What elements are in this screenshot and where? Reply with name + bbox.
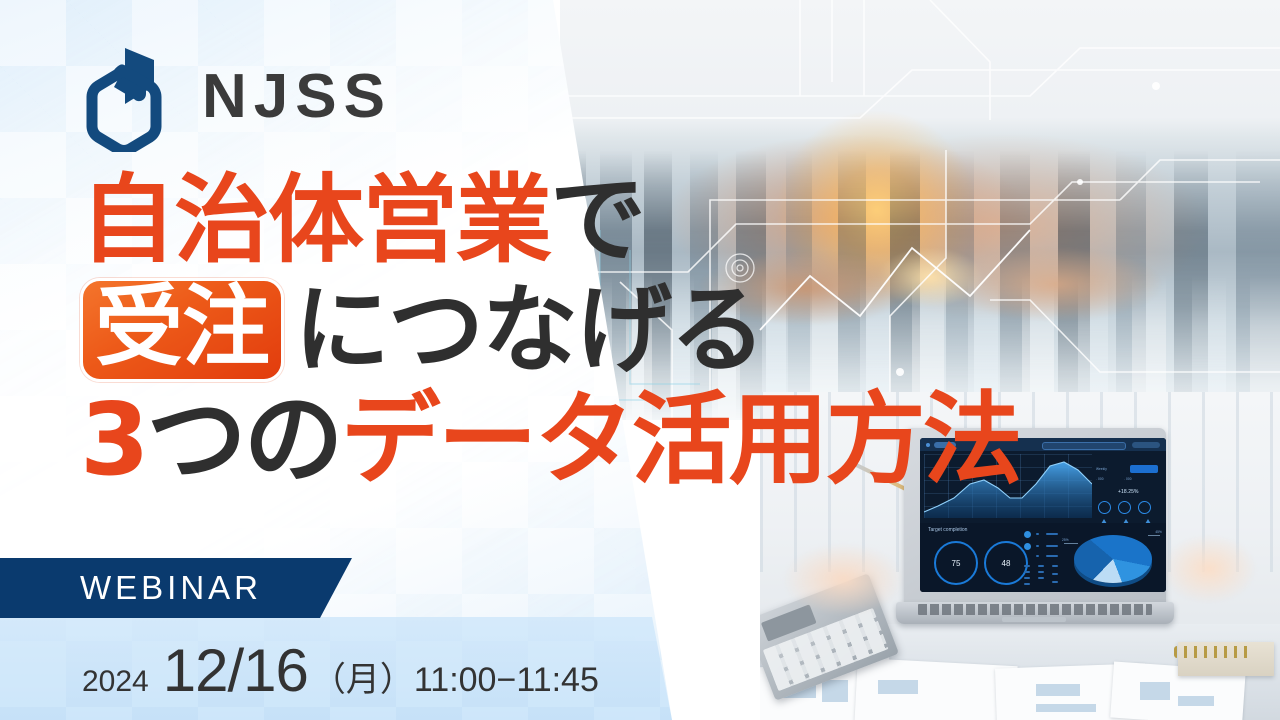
headline-line3-mid: つの bbox=[147, 390, 341, 490]
event-weekday-time: （月）11:00−11:45 bbox=[312, 652, 599, 701]
headline-line-3: 3 つの データ活用方法 bbox=[80, 390, 1040, 490]
kpi-period-label: Weekly bbox=[1096, 467, 1107, 471]
event-year: 2024 bbox=[82, 665, 149, 699]
dashboard-lower-panel: Target completion 75 48 bbox=[920, 523, 1166, 592]
pie-chart: 25% 45% bbox=[1064, 529, 1160, 587]
laptop-keyboard bbox=[918, 604, 1152, 615]
kpi-delta: +18.25% bbox=[1118, 489, 1139, 495]
brand-logo[interactable]: NJSS bbox=[84, 42, 392, 152]
headline-line-1: 自治体営業 で bbox=[80, 172, 1040, 268]
gauge-right: 48 bbox=[984, 541, 1028, 585]
headline: 自治体営業 で 受注 につなげる 3 つの データ活用方法 bbox=[80, 172, 1040, 490]
gauge-left-value: 75 bbox=[952, 559, 961, 568]
headline-line2-tail: につなげる bbox=[294, 282, 764, 378]
njss-hexagon-flag-icon bbox=[84, 42, 180, 152]
target-completion-label: Target completion bbox=[928, 527, 967, 533]
event-datetime: 2024 12/16 （月）11:00−11:45 bbox=[82, 636, 599, 705]
headline-line1-tail: で bbox=[550, 172, 644, 268]
webinar-ribbon: WEBINAR bbox=[0, 558, 352, 618]
brand-wordmark: NJSS bbox=[202, 66, 392, 128]
webinar-label: WEBINAR bbox=[80, 569, 262, 607]
headline-line-2: 受注 につなげる bbox=[80, 278, 1040, 382]
laptop-trackpad bbox=[1002, 617, 1066, 622]
notebook-spiral-rings bbox=[1174, 646, 1252, 658]
headline-line3-highlight: データ活用方法 bbox=[341, 390, 1020, 490]
order-badge: 受注 bbox=[80, 278, 284, 382]
headline-line1-highlight: 自治体営業 bbox=[80, 172, 550, 268]
dashboard-kpi-column: Weekly . 000 . 000 +18.25% bbox=[1096, 467, 1164, 531]
gauge-left: 75 bbox=[934, 541, 978, 585]
webinar-banner: Weekly . 000 . 000 +18.25% bbox=[0, 0, 1280, 720]
gauge-right-value: 48 bbox=[1002, 559, 1011, 568]
headline-line3-number: 3 bbox=[80, 390, 147, 490]
event-month-day: 12/16 bbox=[163, 636, 308, 705]
